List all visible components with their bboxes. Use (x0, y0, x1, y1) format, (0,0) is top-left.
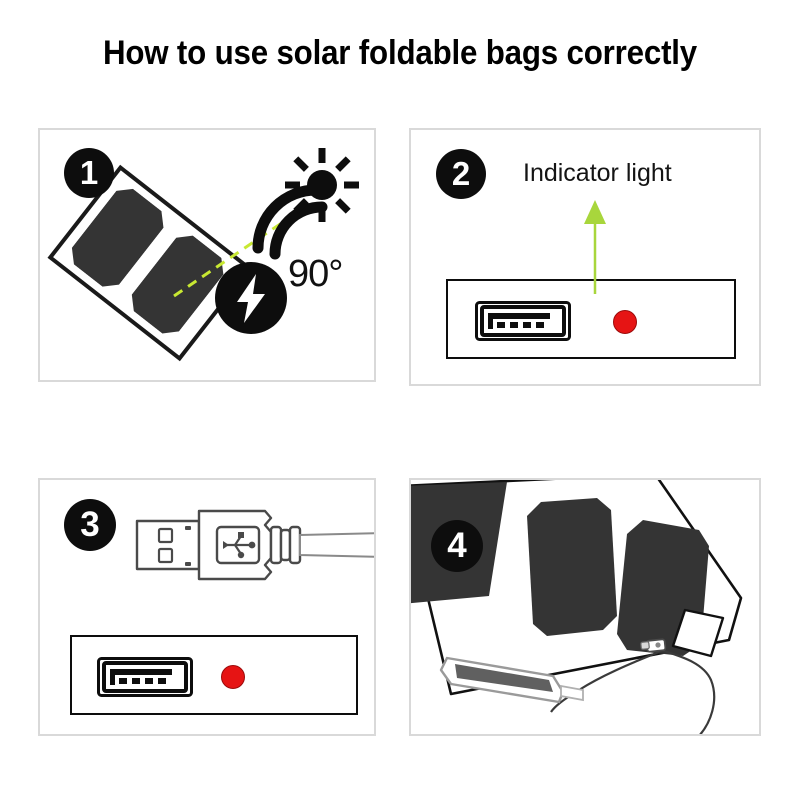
angle-label: 90° (288, 253, 342, 296)
sun-icon (283, 146, 361, 224)
step-badge-2: 2 (436, 149, 486, 199)
step-panel-4: 4 (409, 478, 761, 736)
step-badge-3-label: 3 (80, 507, 99, 542)
indicator-light-label: Indicator light (523, 159, 672, 188)
up-arrow-icon (582, 198, 608, 296)
device-bar (70, 635, 358, 715)
led-indicator-dot (613, 310, 637, 334)
charging-cable (661, 650, 714, 736)
step-badge-4-label: 4 (447, 528, 466, 563)
step-badge-1: 1 (64, 148, 114, 198)
led-indicator-dot (221, 665, 245, 689)
page-title: How to use solar foldable bags correctly (32, 34, 768, 73)
step-panel-2: 2 Indicator light (409, 128, 761, 386)
usb-port-icon (97, 657, 193, 697)
step-badge-3: 3 (64, 499, 116, 551)
step-badge-4: 4 (431, 520, 483, 572)
step-panel-1: 1 90° (38, 128, 376, 382)
usb-port-icon (475, 301, 571, 341)
phone-cable-plug (561, 686, 583, 700)
solar-bag-charging-scene (411, 480, 761, 736)
lightning-bolt-icon (215, 262, 287, 334)
step-badge-2-label: 2 (452, 157, 470, 190)
step-panel-3: 3 (38, 478, 376, 736)
usb-plug-icon (135, 505, 376, 585)
step-badge-1-label: 1 (80, 156, 98, 189)
